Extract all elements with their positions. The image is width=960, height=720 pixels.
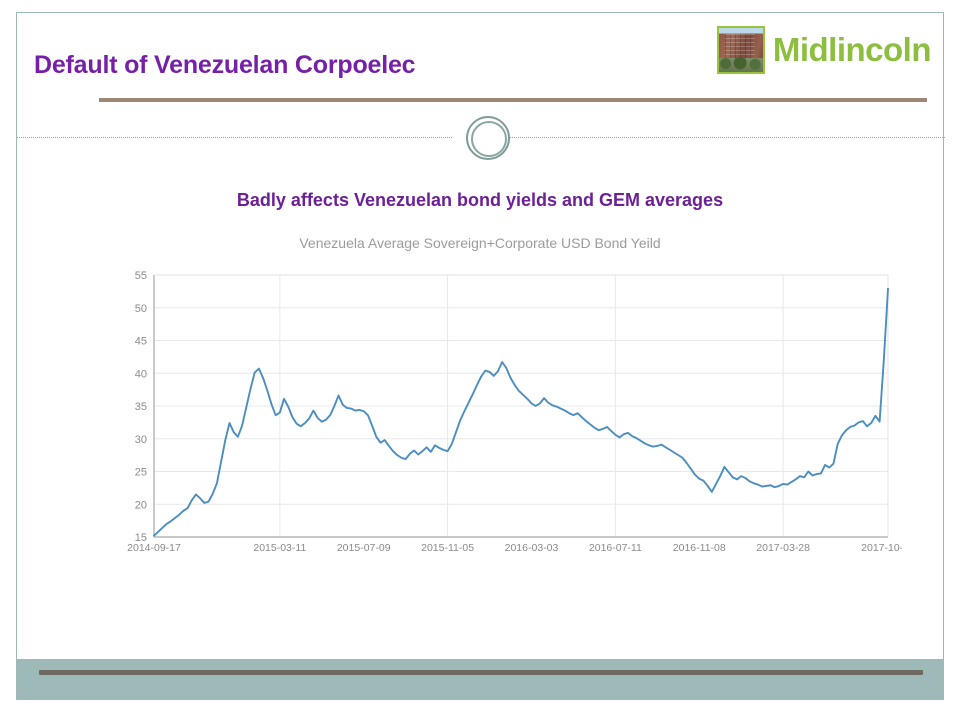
svg-text:25: 25 [135, 467, 147, 479]
footer-band [17, 659, 943, 699]
decorative-divider [17, 116, 943, 160]
svg-text:2017-03-28: 2017-03-28 [756, 542, 810, 554]
svg-text:2014-09-17: 2014-09-17 [127, 542, 181, 554]
svg-text:2016-03-03: 2016-03-03 [505, 542, 559, 554]
footer-rule [39, 670, 923, 675]
svg-text:2016-07-11: 2016-07-11 [589, 542, 642, 554]
slide-header: Default of Venezuelan Corpoelec Midlinco… [17, 13, 943, 99]
svg-text:35: 35 [135, 401, 147, 413]
svg-text:2015-11-05: 2015-11-05 [421, 542, 474, 554]
chart-title: Venezuela Average Sovereign+Corporate US… [17, 235, 943, 251]
svg-text:50: 50 [135, 303, 147, 315]
page-title: Default of Venezuelan Corpoelec [34, 51, 415, 80]
title-divider-rule [99, 98, 927, 102]
svg-text:2015-03-11: 2015-03-11 [253, 542, 306, 554]
svg-text:40: 40 [135, 368, 147, 380]
svg-text:45: 45 [135, 336, 147, 348]
slide-canvas: Default of Venezuelan Corpoelec Midlinco… [16, 12, 944, 700]
decorative-ring-icon [466, 116, 510, 160]
svg-text:2017-10-16: 2017-10-16 [861, 542, 902, 554]
svg-text:2016-11-08: 2016-11-08 [673, 542, 726, 554]
dotted-line-left [17, 137, 452, 138]
svg-text:30: 30 [135, 434, 147, 446]
line-chart-plot: 1520253035404550552014-09-172015-03-1120… [102, 265, 902, 565]
dotted-line-right [510, 137, 945, 138]
brand-logo-group: Midlincoln [717, 26, 931, 74]
chart-container: Venezuela Average Sovereign+Corporate US… [17, 235, 943, 565]
svg-text:2015-07-09: 2015-07-09 [337, 542, 391, 554]
svg-text:55: 55 [135, 270, 147, 282]
building-photo-icon [717, 26, 765, 74]
brand-name: Midlincoln [773, 31, 931, 69]
svg-text:20: 20 [135, 499, 147, 511]
slide-subtitle: Badly affects Venezuelan bond yields and… [17, 190, 943, 211]
